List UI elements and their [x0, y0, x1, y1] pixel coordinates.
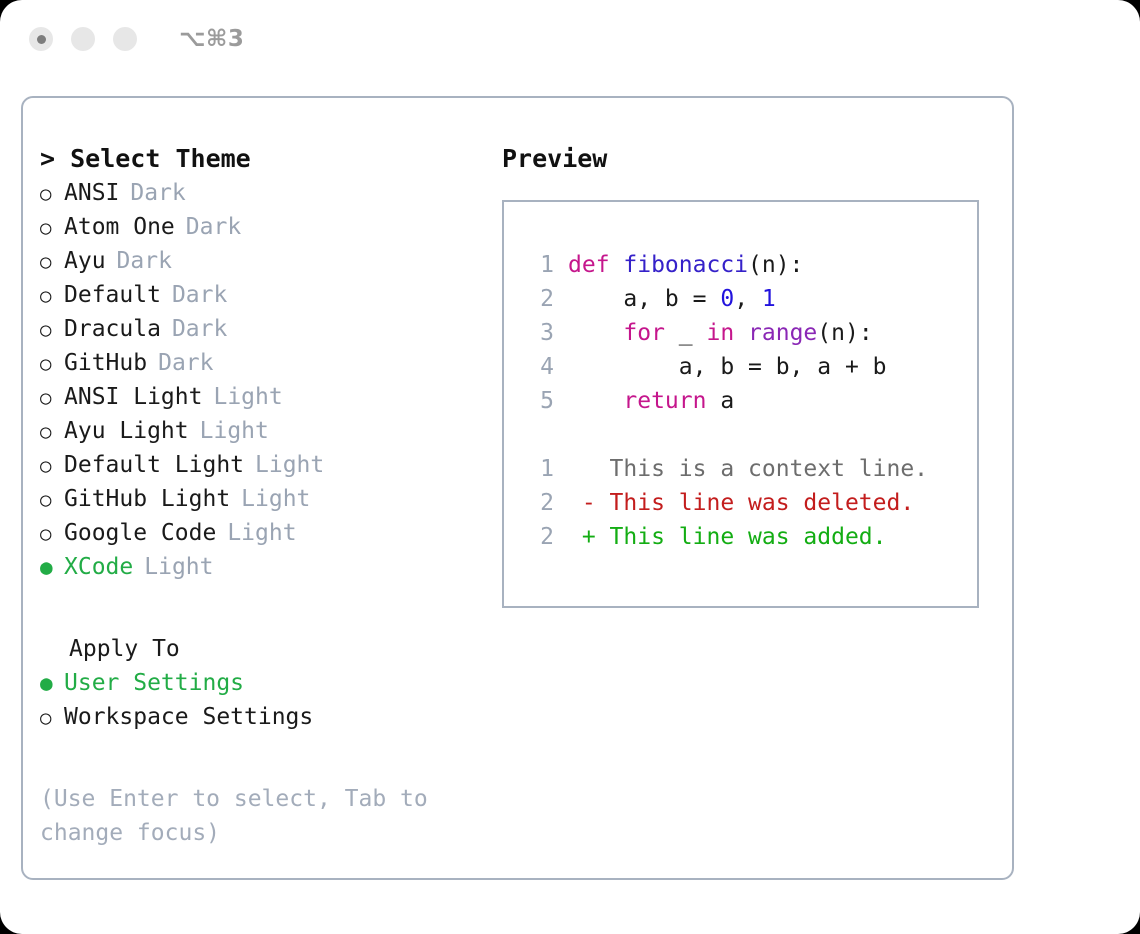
- theme-name: ANSI: [64, 176, 119, 210]
- theme-name: Atom One: [64, 210, 175, 244]
- preview-pane: Preview 1def fibonacci(n):2 a, b = 0, 13…: [502, 142, 1002, 608]
- window-dot-2-icon[interactable]: [71, 27, 95, 51]
- apply-to-label: Workspace Settings: [64, 700, 313, 734]
- radio-unselected-icon: ○: [40, 701, 64, 735]
- line-number: 3: [524, 316, 554, 350]
- apply-to-option-user-settings[interactable]: ●User Settings: [40, 666, 490, 700]
- code-token: a: [706, 384, 734, 418]
- code-line: 3 for _ in range(n):: [524, 316, 977, 350]
- theme-option-github[interactable]: ○GitHubDark: [40, 346, 490, 380]
- theme-kind-badge: Light: [144, 550, 213, 584]
- line-number: 1: [524, 452, 554, 486]
- theme-kind-badge: Dark: [158, 346, 213, 380]
- theme-kind-badge: Light: [241, 482, 310, 516]
- theme-option-ayu-light[interactable]: ○Ayu LightLight: [40, 414, 490, 448]
- radio-selected-icon: ●: [40, 550, 64, 584]
- code-token: This is a context line.: [568, 452, 928, 486]
- page-title: > Select Theme: [40, 142, 490, 176]
- theme-name: Default Light: [64, 448, 244, 482]
- dialog-card: > Select Theme ○ANSIDark○Atom OneDark○Ay…: [21, 96, 1014, 880]
- code-token: def: [568, 248, 623, 282]
- code-token: a, b =: [568, 282, 720, 316]
- line-number: 2: [524, 520, 554, 554]
- code-token: _: [665, 316, 707, 350]
- radio-unselected-icon: ○: [40, 415, 64, 449]
- diff-line: 1 This is a context line.: [524, 452, 977, 486]
- record-dot-inner-icon: [37, 35, 46, 44]
- theme-name: ANSI Light: [64, 380, 202, 414]
- apply-to-heading: Apply To: [40, 632, 490, 666]
- theme-kind-badge: Light: [227, 516, 296, 550]
- code-token: [568, 316, 623, 350]
- record-dot-icon[interactable]: [29, 27, 53, 51]
- line-number: 2: [524, 486, 554, 520]
- theme-option-ansi-light[interactable]: ○ANSI LightLight: [40, 380, 490, 414]
- theme-kind-badge: Light: [255, 448, 324, 482]
- theme-kind-badge: Dark: [172, 278, 227, 312]
- theme-list: ○ANSIDark○Atom OneDark○AyuDark○DefaultDa…: [40, 176, 490, 584]
- theme-kind-badge: Dark: [186, 210, 241, 244]
- radio-unselected-icon: ○: [40, 211, 64, 245]
- code-line: 2 a, b = 0, 1: [524, 282, 977, 316]
- spacer: [40, 584, 490, 632]
- code-token: return: [623, 384, 706, 418]
- line-number: 4: [524, 350, 554, 384]
- theme-option-google-code[interactable]: ○Google CodeLight: [40, 516, 490, 550]
- code-token: 0: [720, 282, 734, 316]
- radio-unselected-icon: ○: [40, 313, 64, 347]
- radio-unselected-icon: ○: [40, 279, 64, 313]
- theme-option-dracula[interactable]: ○DraculaDark: [40, 312, 490, 346]
- theme-kind-badge: Light: [200, 414, 269, 448]
- theme-option-xcode[interactable]: ●XCodeLight: [40, 550, 490, 584]
- diff-line: 2 + This line was added.: [524, 520, 977, 554]
- radio-unselected-icon: ○: [40, 347, 64, 381]
- code-token: [734, 316, 748, 350]
- theme-name: Ayu Light: [64, 414, 189, 448]
- code-token: (n):: [748, 248, 803, 282]
- line-number: 2: [524, 282, 554, 316]
- app-window: ⌥⌘3 > Select Theme ○ANSIDark○Atom OneDar…: [0, 0, 1140, 934]
- code-token: range: [748, 316, 817, 350]
- code-token: [568, 384, 623, 418]
- apply-to-option-workspace-settings[interactable]: ○Workspace Settings: [40, 700, 490, 734]
- radio-unselected-icon: ○: [40, 483, 64, 517]
- theme-option-ansi[interactable]: ○ANSIDark: [40, 176, 490, 210]
- radio-unselected-icon: ○: [40, 449, 64, 483]
- code-token: a, b = b, a + b: [568, 350, 887, 384]
- theme-option-ayu[interactable]: ○AyuDark: [40, 244, 490, 278]
- code-token: fibonacci: [623, 248, 748, 282]
- window-dot-3-icon[interactable]: [113, 27, 137, 51]
- keyboard-shortcut-label: ⌥⌘3: [179, 26, 244, 52]
- code-line: 1def fibonacci(n):: [524, 248, 977, 282]
- theme-name: Ayu: [64, 244, 106, 278]
- code-line: 5 return a: [524, 384, 977, 418]
- code-token: 1: [762, 282, 776, 316]
- radio-selected-icon: ●: [40, 666, 64, 700]
- theme-kind-badge: Dark: [117, 244, 172, 278]
- window-controls: [29, 27, 137, 51]
- theme-name: GitHub Light: [64, 482, 230, 516]
- title-bar: ⌥⌘3: [0, 0, 1140, 78]
- code-token: + This line was added.: [568, 520, 887, 554]
- theme-name: Google Code: [64, 516, 216, 550]
- preview-box: 1def fibonacci(n):2 a, b = 0, 13 for _ i…: [502, 200, 979, 608]
- radio-unselected-icon: ○: [40, 381, 64, 415]
- theme-option-default-light[interactable]: ○Default LightLight: [40, 448, 490, 482]
- theme-kind-badge: Light: [213, 380, 282, 414]
- radio-unselected-icon: ○: [40, 517, 64, 551]
- theme-kind-badge: Dark: [130, 176, 185, 210]
- line-number: 5: [524, 384, 554, 418]
- diff-sample: 1 This is a context line.2 - This line w…: [524, 452, 977, 554]
- radio-unselected-icon: ○: [40, 245, 64, 279]
- code-line: 4 a, b = b, a + b: [524, 350, 977, 384]
- theme-name: Dracula: [64, 312, 161, 346]
- code-token: (n):: [817, 316, 872, 350]
- apply-to-list: ●User Settings○Workspace Settings: [40, 666, 490, 734]
- theme-option-atom-one[interactable]: ○Atom OneDark: [40, 210, 490, 244]
- code-token: ,: [734, 282, 762, 316]
- line-number: 1: [524, 248, 554, 282]
- keyboard-hint-text: (Use Enter to select, Tab to change focu…: [40, 782, 440, 850]
- preview-title: Preview: [502, 142, 1002, 176]
- apply-to-label: User Settings: [64, 666, 244, 700]
- diff-line: 2 - This line was deleted.: [524, 486, 977, 520]
- code-token: for: [623, 316, 665, 350]
- theme-name: XCode: [64, 550, 133, 584]
- theme-name: GitHub: [64, 346, 147, 380]
- theme-option-default[interactable]: ○DefaultDark: [40, 278, 490, 312]
- code-token: in: [706, 316, 734, 350]
- theme-name: Default: [64, 278, 161, 312]
- theme-option-github-light[interactable]: ○GitHub LightLight: [40, 482, 490, 516]
- code-sample: 1def fibonacci(n):2 a, b = 0, 13 for _ i…: [524, 248, 977, 418]
- code-token: - This line was deleted.: [568, 486, 914, 520]
- theme-selection-pane: > Select Theme ○ANSIDark○Atom OneDark○Ay…: [40, 142, 490, 850]
- spacer: [524, 418, 977, 452]
- spacer: [40, 734, 490, 782]
- theme-kind-badge: Dark: [172, 312, 227, 346]
- radio-unselected-icon: ○: [40, 177, 64, 211]
